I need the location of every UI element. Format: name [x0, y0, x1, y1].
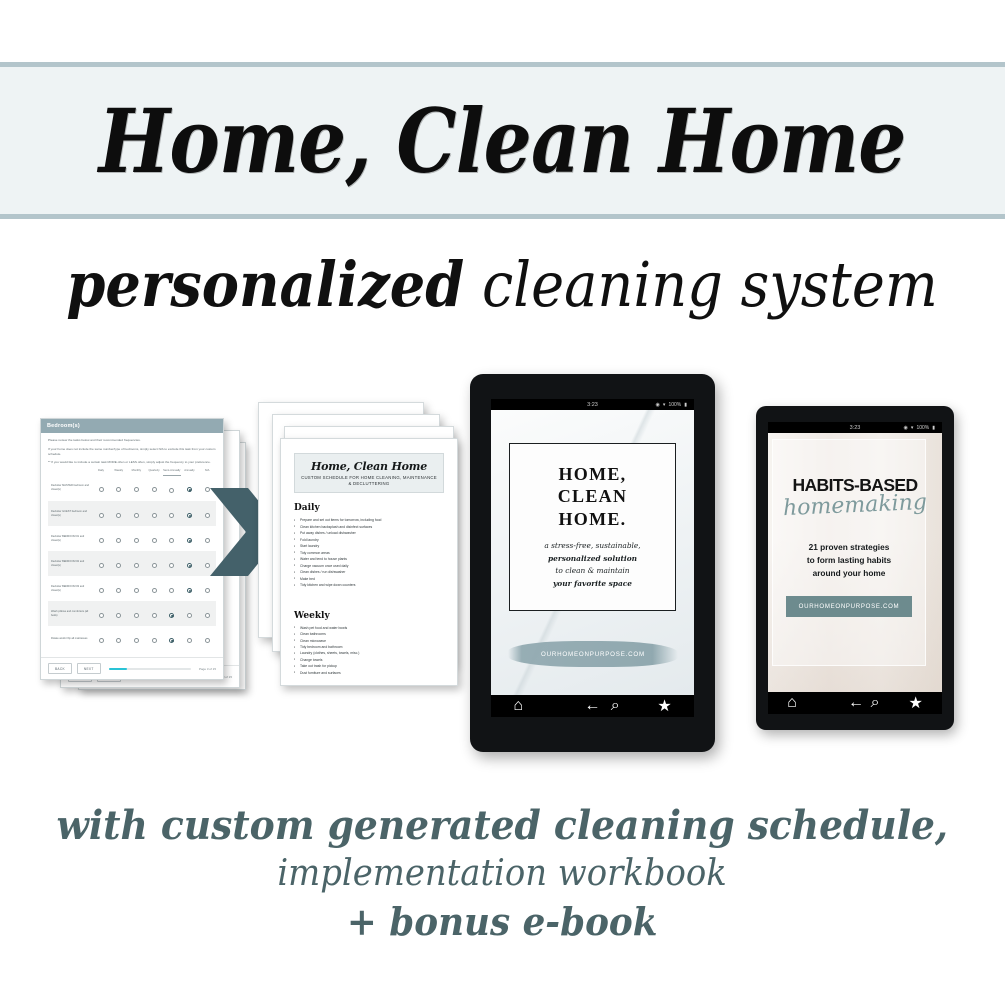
radio-button[interactable] [169, 638, 174, 643]
ebook-description: 21 proven strategies to form lasting hab… [778, 541, 920, 580]
radio-button[interactable] [99, 513, 104, 518]
radio-button[interactable] [187, 613, 192, 618]
radio-button[interactable] [99, 563, 104, 568]
tagline-line-2: implementation workbook [278, 851, 727, 897]
frequency-radio-cell[interactable] [163, 601, 181, 626]
radio-button[interactable] [116, 513, 121, 518]
radio-button[interactable] [169, 563, 174, 568]
radio-button[interactable] [187, 487, 192, 492]
star-icon[interactable]: ★ [909, 693, 923, 713]
frequency-radio-cell[interactable] [110, 526, 128, 551]
tablet-device-secondary: 3:23 ◉ ▾ 100% ▮ HABITS-BASED homemaking … [756, 406, 954, 730]
daily-task-list: Prepare and set out items for tomorrow, … [294, 517, 444, 588]
frequency-radio-cell[interactable] [128, 551, 146, 576]
battery-percent: 100% [916, 425, 929, 431]
radio-button[interactable] [134, 638, 139, 643]
title-banner: Home, Clean Home [0, 62, 1005, 219]
form-section-title: Bedroom(s) [41, 419, 223, 433]
task-item: Tidy kitchen and wipe down counters [294, 582, 444, 588]
radio-button[interactable] [134, 487, 139, 492]
back-button[interactable]: BACK [48, 663, 72, 674]
frequency-radio-cell[interactable] [128, 476, 146, 502]
star-icon[interactable]: ★ [657, 696, 671, 716]
frequency-row[interactable]: Wash pillows and comforters (all beds) [48, 601, 216, 626]
website-url-secondary: OURHOMEONPURPOSE.COM [799, 603, 900, 610]
frequency-radio-cell[interactable] [110, 476, 128, 502]
frequency-radio-cell[interactable] [110, 576, 128, 601]
cover-sub-3: to clean & maintain [544, 565, 640, 578]
tablet-secondary-screen[interactable]: 3:23 ◉ ▾ 100% ▮ HABITS-BASED homemaking … [768, 422, 942, 714]
radio-button[interactable] [134, 513, 139, 518]
radio-button[interactable] [187, 538, 192, 543]
radio-button[interactable] [134, 563, 139, 568]
frequency-radio-cell[interactable] [92, 551, 110, 576]
subtitle-light: cleaning system [465, 248, 938, 321]
alarm-icon: ◉ [904, 425, 908, 431]
tablet-primary-status-bar: 3:23 ◉ ▾ 100% ▮ [491, 399, 694, 410]
frequency-radio-cell[interactable] [128, 626, 146, 651]
questionnaire-page-front[interactable]: Bedroom(s) Please review the tasks below… [40, 418, 224, 680]
brush-stroke-badge: OURHOMEONPURPOSE.COM [508, 641, 678, 667]
search-icon[interactable]: ⌕ [611, 697, 620, 715]
frequency-radio-cell[interactable] [198, 601, 216, 626]
schedule-title: Home, Clean Home [299, 460, 439, 473]
radio-button[interactable] [152, 563, 157, 568]
radio-button[interactable] [116, 638, 121, 643]
frequency-radio-cell[interactable] [145, 476, 163, 502]
cover-text-card: HOME, CLEAN HOME. a stress-free, sustain… [509, 443, 676, 611]
subtitle-strong: personalized [67, 248, 465, 321]
frequency-radio-cell[interactable] [92, 501, 110, 526]
battery-percent: 100% [668, 402, 681, 408]
ebook-desc-line-2: to form lasting habits [778, 554, 920, 567]
radio-button[interactable] [116, 588, 121, 593]
next-button[interactable]: NEXT [77, 663, 101, 674]
frequency-radio-cell[interactable] [110, 601, 128, 626]
radio-button[interactable] [205, 588, 210, 593]
frequency-radio-cell[interactable] [145, 601, 163, 626]
frequency-radio-cell[interactable] [163, 626, 181, 651]
frequency-radio-cell[interactable] [181, 501, 199, 526]
schedule-preview-stack: Home, Clean Home CUSTOM SCHEDULE FOR HOM… [250, 402, 470, 702]
frequency-radio-cell[interactable] [128, 501, 146, 526]
website-url-primary: OURHOMEONPURPOSE.COM [541, 651, 645, 658]
wifi-icon: ▾ [663, 402, 666, 408]
radio-button[interactable] [152, 588, 157, 593]
schedule-page-front[interactable]: Home, Clean Home CUSTOM SCHEDULE FOR HOM… [280, 438, 458, 686]
radio-button[interactable] [152, 638, 157, 643]
radio-button[interactable] [169, 513, 174, 518]
radio-button[interactable] [99, 538, 104, 543]
frequency-radio-cell[interactable] [92, 601, 110, 626]
frequency-row-label: Declutter BEDROOM #1 and closet(s) [48, 526, 92, 551]
status-time: 3:23 [850, 425, 861, 431]
radio-button[interactable] [152, 538, 157, 543]
product-mockup-stage: BACK NEXT Page 3 of 15 Bedroom(s) Please… [0, 370, 1005, 770]
tagline-line-3: + bonus e-book [347, 897, 658, 946]
tablet-secondary-nav-bar[interactable]: ⌂ ← ⌕ ★ [768, 692, 942, 714]
tablet-secondary-status-bar: 3:23 ◉ ▾ 100% ▮ [768, 422, 942, 433]
schedule-subtitle: CUSTOM SCHEDULE FOR HOME CLEANING, MAINT… [299, 475, 439, 487]
alarm-icon: ◉ [656, 402, 660, 408]
frequency-radio-cell[interactable] [163, 526, 181, 551]
cover-sub-4: your favorite space [553, 579, 632, 588]
ebook-desc-line-3: around your home [778, 567, 920, 580]
frequency-radio-cell[interactable] [110, 626, 128, 651]
form-note-3: ** If you would like to include a certai… [48, 460, 216, 465]
radio-button[interactable] [169, 538, 174, 543]
battery-icon: ▮ [932, 425, 935, 431]
frequency-row[interactable]: Declutter BEDROOM #1 and closet(s) [48, 526, 216, 551]
radio-button[interactable] [99, 613, 104, 618]
frequency-radio-cell[interactable] [145, 626, 163, 651]
frequency-radio-cell[interactable] [181, 476, 199, 502]
radio-button[interactable] [187, 588, 192, 593]
radio-button[interactable] [169, 488, 174, 493]
questionnaire-footer-front: BACK NEXT Page 3 of 15 [41, 657, 223, 679]
cover-sub-2: personalized solution [548, 554, 637, 563]
form-note-1: Please review the tasks below and their … [48, 438, 216, 443]
frequency-row-label: Declutter MASTER bedroom and closet(s) [48, 476, 92, 502]
frequency-radio-cell[interactable] [145, 501, 163, 526]
frequency-row[interactable]: Declutter MASTER bedroom and closet(s) [48, 476, 216, 502]
radio-button[interactable] [187, 563, 192, 568]
frequency-radio-cell[interactable] [163, 576, 181, 601]
cover-line-3: HOME. [558, 508, 628, 530]
tablet-device-primary: 3:23 ◉ ▾ 100% ▮ HOME, CLEAN HOME. [470, 374, 715, 752]
frequency-radio-cell[interactable] [128, 576, 146, 601]
frequency-row[interactable]: Declutter BEDROOM #2 and closet(s) [48, 551, 216, 576]
frequency-row-label: Wash pillows and comforters (all beds) [48, 601, 92, 626]
frequency-radio-cell[interactable] [145, 576, 163, 601]
website-button-secondary[interactable]: OURHOMEONPURPOSE.COM [786, 596, 912, 617]
progress-bar [109, 668, 191, 670]
radio-button[interactable] [116, 563, 121, 568]
cover-sub-1: a stress-free, sustainable, [544, 540, 640, 553]
frequency-radio-cell[interactable] [110, 501, 128, 526]
radio-button[interactable] [169, 588, 174, 593]
radio-button[interactable] [116, 487, 121, 492]
frequency-radio-cell[interactable] [92, 476, 110, 502]
frequency-row-label: Declutter GUEST bedroom and closet(s) [48, 501, 92, 526]
cover-line-1: HOME, [558, 463, 628, 485]
frequency-radio-cell[interactable] [181, 551, 199, 576]
radio-button[interactable] [99, 638, 104, 643]
ebook-cover-primary: HOME, CLEAN HOME. a stress-free, sustain… [491, 410, 694, 695]
frequency-radio-cell[interactable] [181, 526, 199, 551]
frequency-radio-cell[interactable] [163, 501, 181, 526]
form-note-2: If your home does not include the same n… [48, 447, 216, 457]
tablet-primary-nav-bar[interactable]: ⌂ ← ⌕ ★ [491, 695, 694, 717]
weekly-heading: Weekly [294, 611, 444, 621]
frequency-radio-cell[interactable] [145, 551, 163, 576]
frequency-radio-cell[interactable] [181, 626, 199, 651]
frequency-row[interactable]: Rotate and/or flip all mattresses [48, 626, 216, 651]
frequency-row[interactable]: Declutter BEDROOM #3 and closet(s) [48, 576, 216, 601]
back-arrow-icon[interactable]: ← [584, 697, 600, 715]
frequency-radio-cell[interactable] [92, 576, 110, 601]
frequency-radio-cell[interactable] [145, 526, 163, 551]
frequency-row-label: Declutter BEDROOM #3 and closet(s) [48, 576, 92, 601]
subtitle: personalized cleaning system [0, 252, 1005, 317]
frequency-radio-cell[interactable] [181, 601, 199, 626]
radio-button[interactable] [152, 487, 157, 492]
radio-button[interactable] [152, 513, 157, 518]
search-icon[interactable]: ⌕ [871, 694, 880, 712]
weekly-task-list: Wash pet food and water bowlsClean bathr… [294, 625, 444, 677]
frequency-radio-cell[interactable] [128, 526, 146, 551]
frequency-table: Daily Weekly Monthly Quarterly Semi-Annu… [48, 469, 216, 651]
status-time: 3:23 [587, 402, 598, 408]
radio-button[interactable] [116, 538, 121, 543]
frequency-radio-cell[interactable] [92, 526, 110, 551]
battery-icon: ▮ [684, 402, 687, 408]
schedule-title-box: Home, Clean Home CUSTOM SCHEDULE FOR HOM… [294, 453, 444, 493]
page-title: Home, Clean Home [99, 97, 906, 185]
radio-button[interactable] [134, 613, 139, 618]
home-icon[interactable]: ⌂ [513, 697, 523, 715]
frequency-radio-cell[interactable] [163, 551, 181, 576]
tagline-block: with custom generated cleaning schedule,… [0, 800, 1005, 947]
frequency-row-label: Rotate and/or flip all mattresses [48, 626, 92, 651]
ebook-desc-line-1: 21 proven strategies [778, 541, 920, 554]
radio-button[interactable] [134, 538, 139, 543]
radio-button[interactable] [116, 613, 121, 618]
task-item: Dust furniture and surfaces [294, 670, 444, 676]
radio-button[interactable] [99, 588, 104, 593]
frequency-row-label: Declutter BEDROOM #2 and closet(s) [48, 551, 92, 576]
radio-button[interactable] [205, 638, 210, 643]
frequency-radio-cell[interactable] [110, 551, 128, 576]
radio-button[interactable] [187, 513, 192, 518]
frequency-radio-cell[interactable] [198, 626, 216, 651]
frequency-radio-cell[interactable] [181, 576, 199, 601]
frequency-radio-cell[interactable] [92, 626, 110, 651]
radio-button[interactable] [99, 487, 104, 492]
tagline-line-1: with custom generated cleaning schedule, [57, 800, 949, 851]
radio-button[interactable] [187, 638, 192, 643]
wifi-icon: ▾ [911, 425, 914, 431]
frequency-row[interactable]: Declutter GUEST bedroom and closet(s) [48, 501, 216, 526]
frequency-radio-cell[interactable] [163, 476, 181, 502]
home-icon[interactable]: ⌂ [787, 694, 797, 712]
radio-button[interactable] [205, 613, 210, 618]
page-indicator: Page 3 of 15 [199, 667, 216, 671]
radio-button[interactable] [152, 613, 157, 618]
radio-button[interactable] [134, 588, 139, 593]
tablet-primary-screen[interactable]: 3:23 ◉ ▾ 100% ▮ HOME, CLEAN HOME. [491, 399, 694, 717]
radio-button[interactable] [169, 613, 174, 618]
cover-line-2: CLEAN [558, 485, 628, 507]
frequency-radio-cell[interactable] [128, 601, 146, 626]
daily-heading: Daily [294, 503, 444, 513]
ebook-cover-secondary: HABITS-BASED homemaking 21 proven strate… [768, 433, 942, 694]
frequency-table-body: Declutter MASTER bedroom and closet(s)De… [48, 476, 216, 652]
back-arrow-icon[interactable]: ← [848, 694, 864, 712]
